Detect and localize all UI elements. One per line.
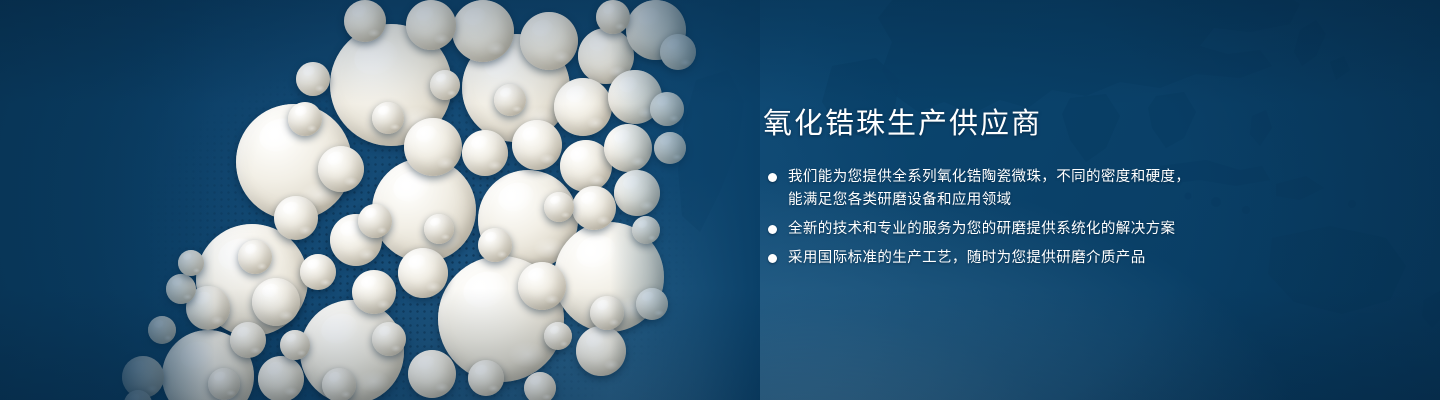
banner-bullet-list: 我们能为您提供全系列氧化锆陶瓷微珠，不同的密度和硬度， 能满足您各类研磨设备和应… bbox=[763, 166, 1363, 270]
list-item: 我们能为您提供全系列氧化锆陶瓷微珠，不同的密度和硬度， 能满足您各类研磨设备和应… bbox=[763, 166, 1363, 212]
banner-headline: 氧化锆珠生产供应商 bbox=[763, 104, 1363, 144]
banner-copy: 氧化锆珠生产供应商 我们能为您提供全系列氧化锆陶瓷微珠，不同的密度和硬度， 能满… bbox=[763, 104, 1363, 276]
list-item: 全新的技术和专业的服务为您的研磨提供系统化的解决方案 bbox=[763, 218, 1363, 241]
hero-banner: 氧化锆珠生产供应商 我们能为您提供全系列氧化锆陶瓷微珠，不同的密度和硬度， 能满… bbox=[0, 0, 1440, 400]
bullet-dot-icon bbox=[768, 254, 777, 263]
bullet-text-line: 能满足您各类研磨设备和应用领域 bbox=[788, 189, 1363, 212]
bullet-text-line: 采用国际标准的生产工艺，随时为您提供研磨介质产品 bbox=[788, 247, 1363, 270]
bullet-dot-icon bbox=[768, 173, 777, 182]
bullet-text-line: 我们能为您提供全系列氧化锆陶瓷微珠，不同的密度和硬度， bbox=[788, 166, 1363, 189]
list-item: 采用国际标准的生产工艺，随时为您提供研磨介质产品 bbox=[763, 247, 1363, 270]
bullet-dot-icon bbox=[768, 225, 777, 234]
bullet-text-line: 全新的技术和专业的服务为您的研磨提供系统化的解决方案 bbox=[788, 218, 1363, 241]
